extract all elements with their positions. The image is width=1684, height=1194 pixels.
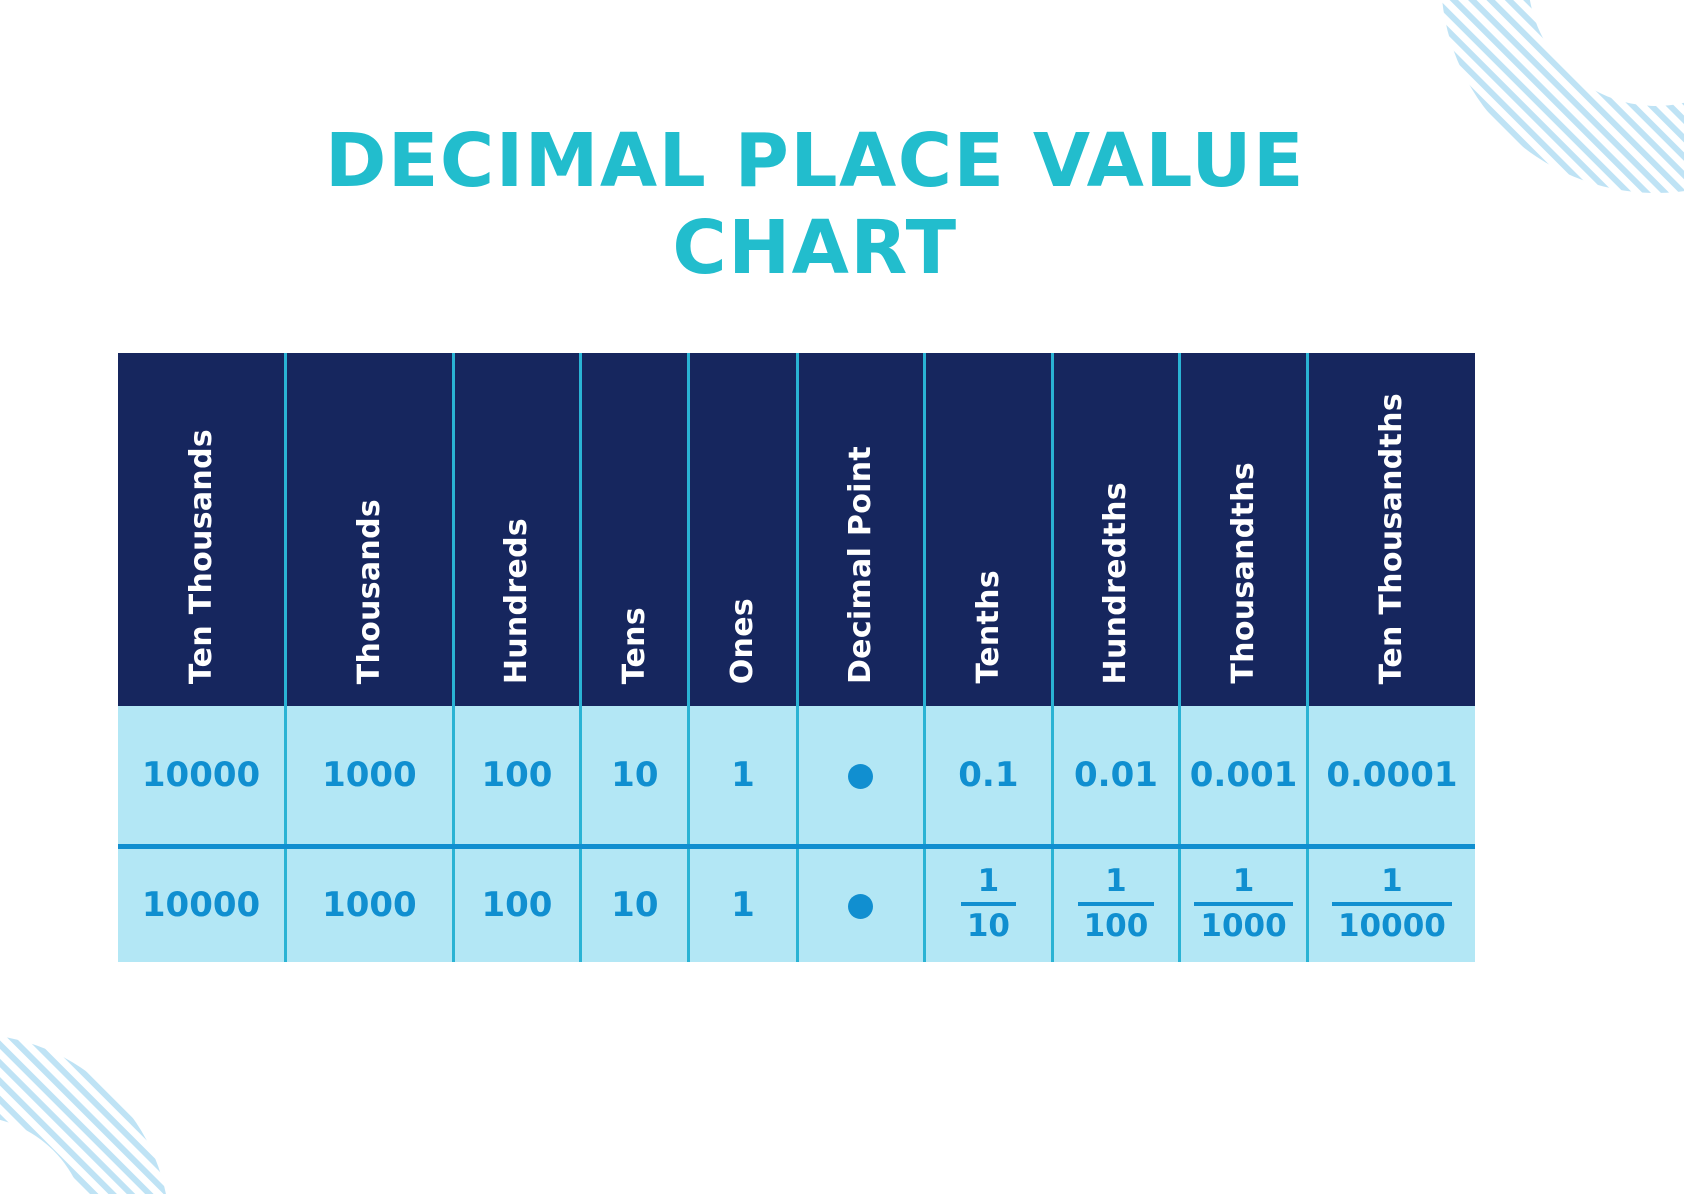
column-header-label: Thousands	[352, 499, 387, 684]
column-header-tens: Tens	[581, 353, 689, 706]
table-header-row: Ten Thousands Thousands Hundreds Tens On…	[118, 353, 1475, 706]
column-header-hundreds: Hundreds	[453, 353, 581, 706]
cell-thousands-fraction: 1000	[286, 846, 454, 962]
decimal-point-icon	[848, 894, 873, 919]
cell-ones-decimal: 1	[689, 706, 797, 846]
cell-tenths-fraction: 1 10	[925, 846, 1053, 962]
fraction-denominator: 100	[1078, 909, 1155, 943]
table-row-decimal-values: 10000 1000 100 10 1 0.1 0.01 0.001 0.000…	[118, 706, 1475, 846]
column-header-label: Thousandths	[1226, 462, 1261, 684]
cell-decimal-point-dot	[797, 706, 925, 846]
cell-thousandths-decimal: 0.001	[1180, 706, 1308, 846]
column-header-ten-thousandths: Ten Thousandths	[1307, 353, 1475, 706]
cell-ones-fraction: 1	[689, 846, 797, 962]
cell-ten-thousands-fraction: 10000	[118, 846, 286, 962]
fraction-denominator: 10	[961, 909, 1016, 943]
fraction-numerator: 1	[1332, 865, 1452, 900]
fraction: 1 1000	[1194, 865, 1292, 942]
cell-ten-thousands-decimal: 10000	[118, 706, 286, 846]
column-header-thousands: Thousands	[286, 353, 454, 706]
column-header-label: Ones	[725, 598, 760, 684]
fraction-bar	[1332, 902, 1452, 906]
cell-tens-fraction: 10	[581, 846, 689, 962]
fraction-bar	[1194, 902, 1292, 906]
column-header-label: Tenths	[971, 570, 1006, 684]
fraction-denominator: 1000	[1194, 909, 1292, 943]
column-header-ones: Ones	[689, 353, 797, 706]
column-header-label: Decimal Point	[843, 446, 878, 684]
cell-tenths-decimal: 0.1	[925, 706, 1053, 846]
decimal-place-value-table: Ten Thousands Thousands Hundreds Tens On…	[118, 353, 1475, 962]
fraction: 1 10	[961, 865, 1016, 942]
table-row-fraction-values: 10000 1000 100 10 1 1 10 1	[118, 846, 1475, 962]
cell-decimal-point-dot	[797, 846, 925, 962]
striped-arc-decoration-bottom-left	[0, 994, 260, 1194]
decimal-point-icon	[848, 764, 873, 789]
cell-hundreds-decimal: 100	[453, 706, 581, 846]
fraction: 1 10000	[1332, 865, 1452, 942]
cell-hundredths-fraction: 1 100	[1052, 846, 1180, 962]
column-header-label: Ten Thousandths	[1374, 393, 1409, 684]
column-header-decimal-point: Decimal Point	[797, 353, 925, 706]
column-header-label: Tens	[617, 607, 652, 684]
cell-thousands-decimal: 1000	[286, 706, 454, 846]
page-title: DECIMAL PLACE VALUE CHART	[250, 118, 1380, 293]
fraction-bar	[961, 902, 1016, 906]
fraction-bar	[1078, 902, 1155, 906]
cell-hundredths-decimal: 0.01	[1052, 706, 1180, 846]
striped-arc-decoration-top-right	[1356, 0, 1684, 218]
fraction-numerator: 1	[961, 865, 1016, 900]
table-body: 10000 1000 100 10 1 0.1 0.01 0.001 0.000…	[118, 706, 1475, 962]
column-header-label: Ten Thousands	[184, 429, 219, 684]
cell-ten-thousandths-decimal: 0.0001	[1307, 706, 1475, 846]
column-header-tenths: Tenths	[925, 353, 1053, 706]
column-header-hundredths: Hundredths	[1052, 353, 1180, 706]
cell-thousandths-fraction: 1 1000	[1180, 846, 1308, 962]
column-header-ten-thousands: Ten Thousands	[118, 353, 286, 706]
fraction-denominator: 10000	[1332, 909, 1452, 943]
cell-hundreds-fraction: 100	[453, 846, 581, 962]
column-header-thousandths: Thousandths	[1180, 353, 1308, 706]
column-header-label: Hundredths	[1098, 482, 1133, 684]
cell-ten-thousandths-fraction: 1 10000	[1307, 846, 1475, 962]
cell-tens-decimal: 10	[581, 706, 689, 846]
fraction-numerator: 1	[1194, 865, 1292, 900]
table-header: Ten Thousands Thousands Hundreds Tens On…	[118, 353, 1475, 706]
poster-canvas: DECIMAL PLACE VALUE CHART Ten Thousands …	[0, 0, 1684, 1194]
fraction: 1 100	[1078, 865, 1155, 942]
fraction-numerator: 1	[1078, 865, 1155, 900]
column-header-label: Hundreds	[499, 518, 534, 684]
